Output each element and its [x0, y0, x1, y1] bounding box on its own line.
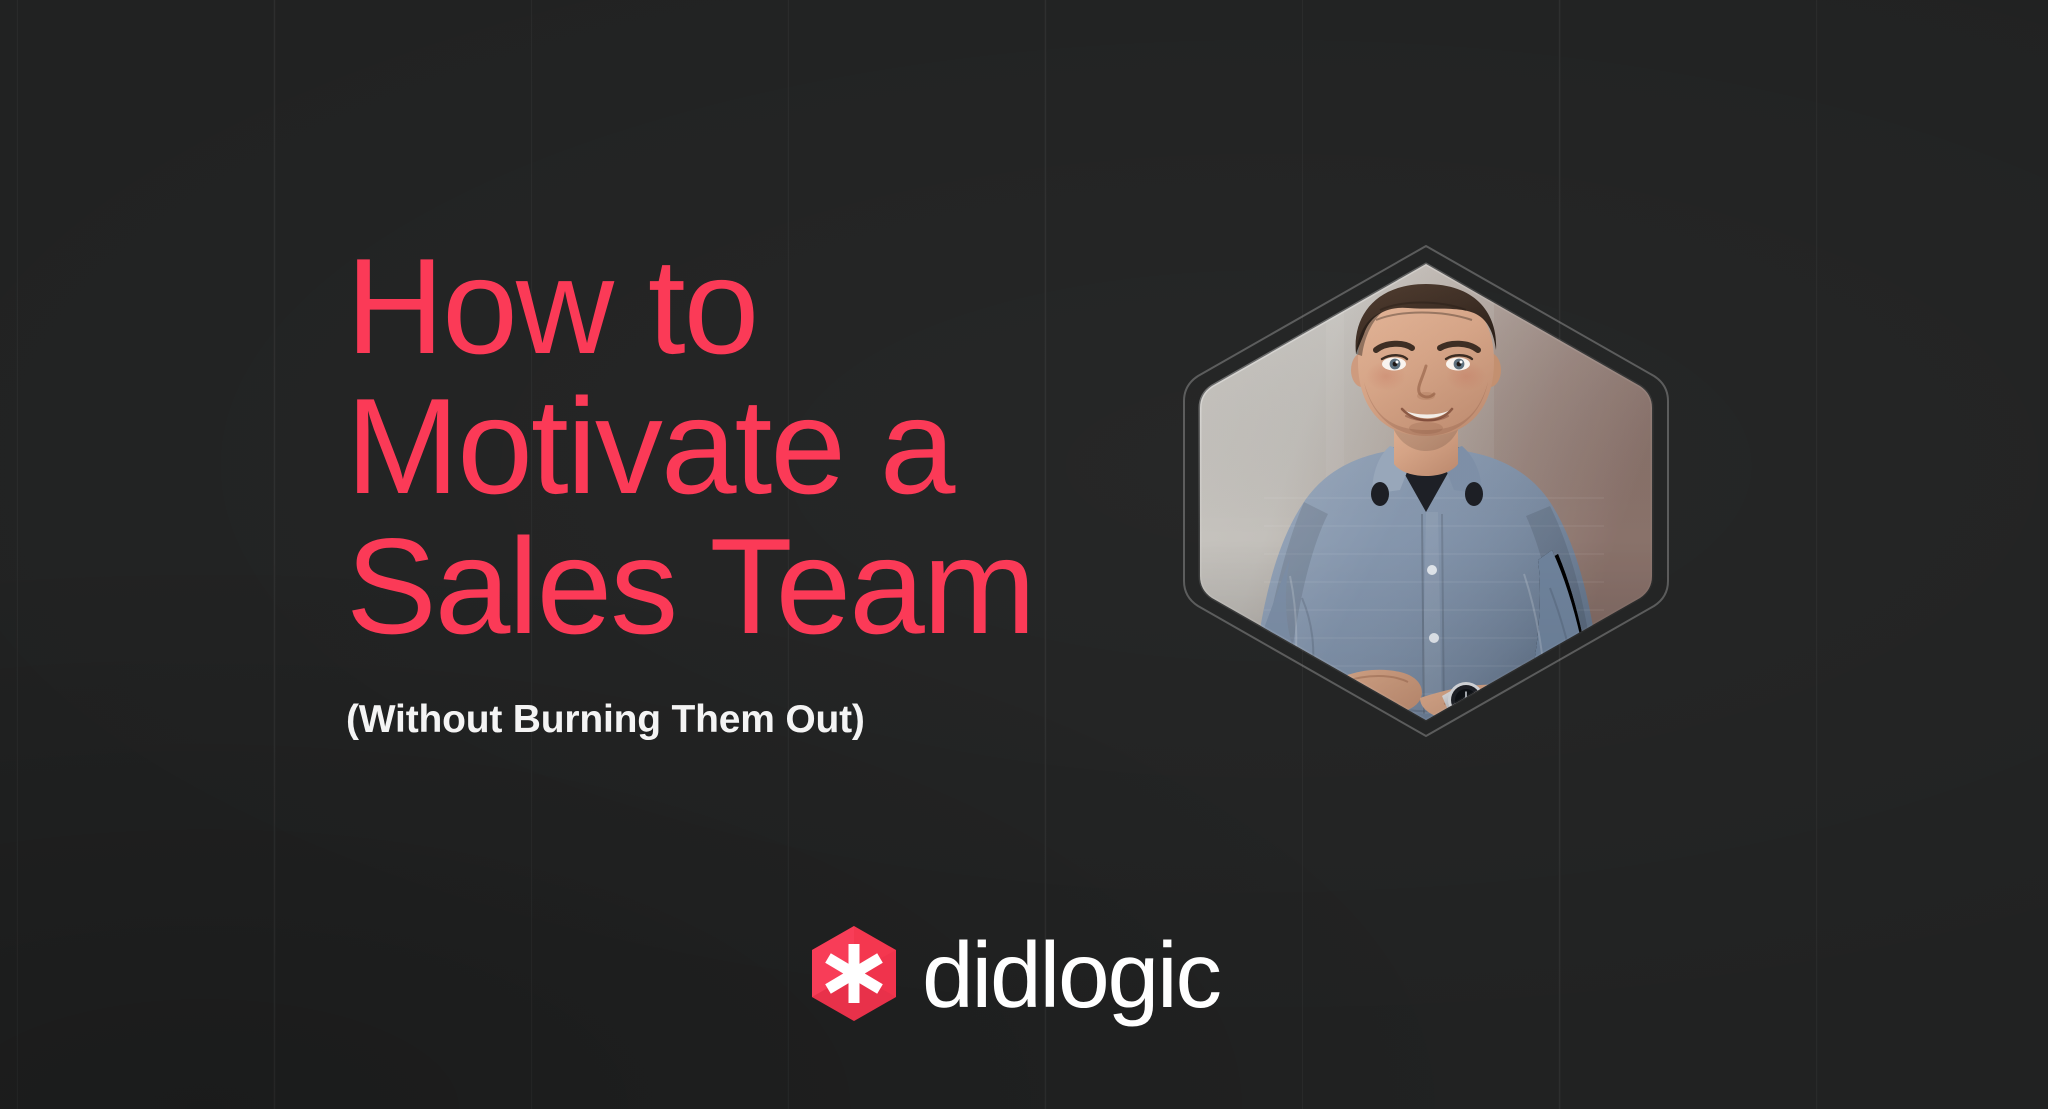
didlogic-logo[interactable]: didlogic	[809, 925, 1220, 1022]
didlogic-wordmark: didlogic	[922, 929, 1220, 1022]
title-block: How to Motivate a Sales Team (Without Bu…	[346, 238, 1166, 742]
didlogic-hexagon-asterisk-icon	[809, 925, 899, 1022]
portrait-photo	[1194, 258, 1658, 726]
page-title: How to Motivate a Sales Team	[346, 238, 1166, 654]
cover-canvas: How to Motivate a Sales Team (Without Bu…	[0, 0, 2048, 1109]
headline-line-1: How to	[346, 238, 1166, 374]
headline-line-2: Motivate a	[346, 378, 1166, 514]
portrait-hexagon	[1176, 238, 1676, 744]
headline-line-3: Sales Team	[346, 518, 1166, 654]
page-subtitle: (Without Burning Them Out)	[346, 698, 1166, 742]
